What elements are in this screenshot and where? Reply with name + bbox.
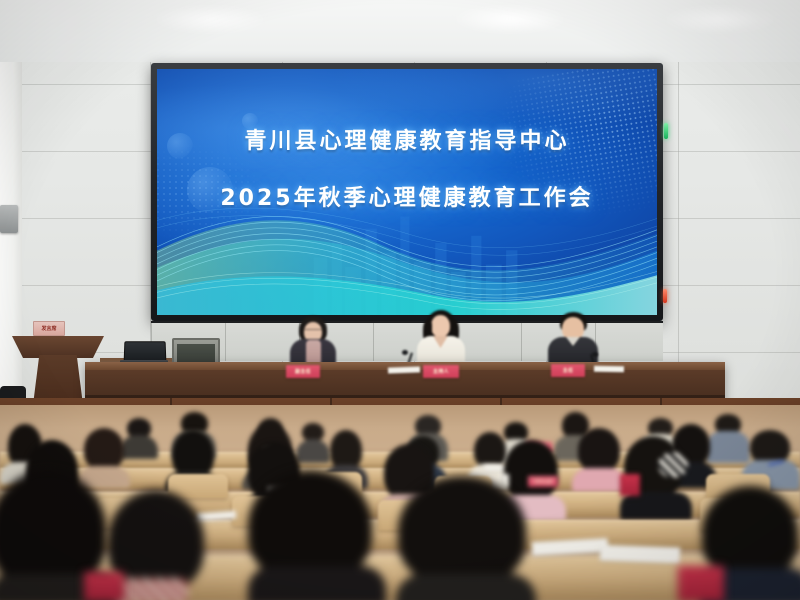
nameplate-center: 主持人 [423, 365, 459, 378]
head-table-paper-2 [594, 366, 624, 373]
attendee-r3-5-body [620, 492, 692, 520]
ceiling-light-3 [660, 4, 780, 34]
nameplate-right: 主任 [551, 364, 585, 377]
attendee-fg-3 [248, 470, 386, 600]
led-display-frame: 青川县心理健康教育指导中心 2025年秋季心理健康教育工作会 [151, 63, 663, 321]
wall-speaker-icon [0, 205, 18, 233]
screen-title-block: 青川县心理健康教育指导中心 2025年秋季心理健康教育工作会 [157, 121, 657, 221]
attendee-fg-3-shoulder [248, 566, 386, 600]
screen-title-line2: 2025年秋季心理健康教育工作会 [157, 178, 657, 220]
attendee-r2-8 [572, 428, 626, 490]
red-booklet-fg-1 [678, 566, 724, 600]
led-display-screen: 青川县心理健康教育指导中心 2025年秋季心理健康教育工作会 [157, 69, 657, 315]
attendee-r2-2-hair [84, 428, 124, 470]
attendee-fg-4-shoulder [396, 574, 536, 600]
status-indicator-icon [663, 289, 667, 303]
ceiling-light-2 [450, 4, 570, 34]
attendee-r2-10-hair [750, 430, 790, 464]
head-table-paper-1 [388, 366, 420, 373]
attendee-fg-4-hair [398, 476, 526, 586]
nameplate-left: 副主任 [286, 365, 320, 378]
ceiling-light-1 [150, 4, 270, 34]
presenter-center-head [431, 315, 450, 337]
red-booklet-r3-1 [620, 474, 640, 496]
presenter-left-glasses-icon [304, 329, 322, 333]
podium-top [12, 336, 104, 358]
attendee-r2-8-body [572, 468, 626, 492]
attendee-r2-8-hair [578, 428, 620, 472]
conference-room-photo: 青川县心理健康教育指导中心 2025年秋季心理健康教育工作会 发言席 [0, 0, 800, 600]
attendee-r2-3-hair [172, 430, 214, 478]
attendee-fg-2-scarf [116, 578, 188, 600]
microphone-right-head-icon [592, 352, 598, 357]
presenter-left [286, 316, 340, 368]
power-indicator-icon [664, 123, 668, 139]
screen-title-line1: 青川县心理健康教育指导中心 [157, 121, 657, 163]
attendee-r3-5-hair-tie [658, 452, 688, 478]
red-booklet-fg-2 [84, 572, 124, 600]
microphone-center-head-icon [402, 350, 408, 355]
attendee-r2-5-hair [330, 430, 362, 470]
desk-paper-fg-2 [600, 545, 681, 564]
presenter-center [412, 310, 470, 368]
attendee-fg-4 [396, 476, 536, 600]
podium-sign: 发言席 [33, 321, 65, 336]
